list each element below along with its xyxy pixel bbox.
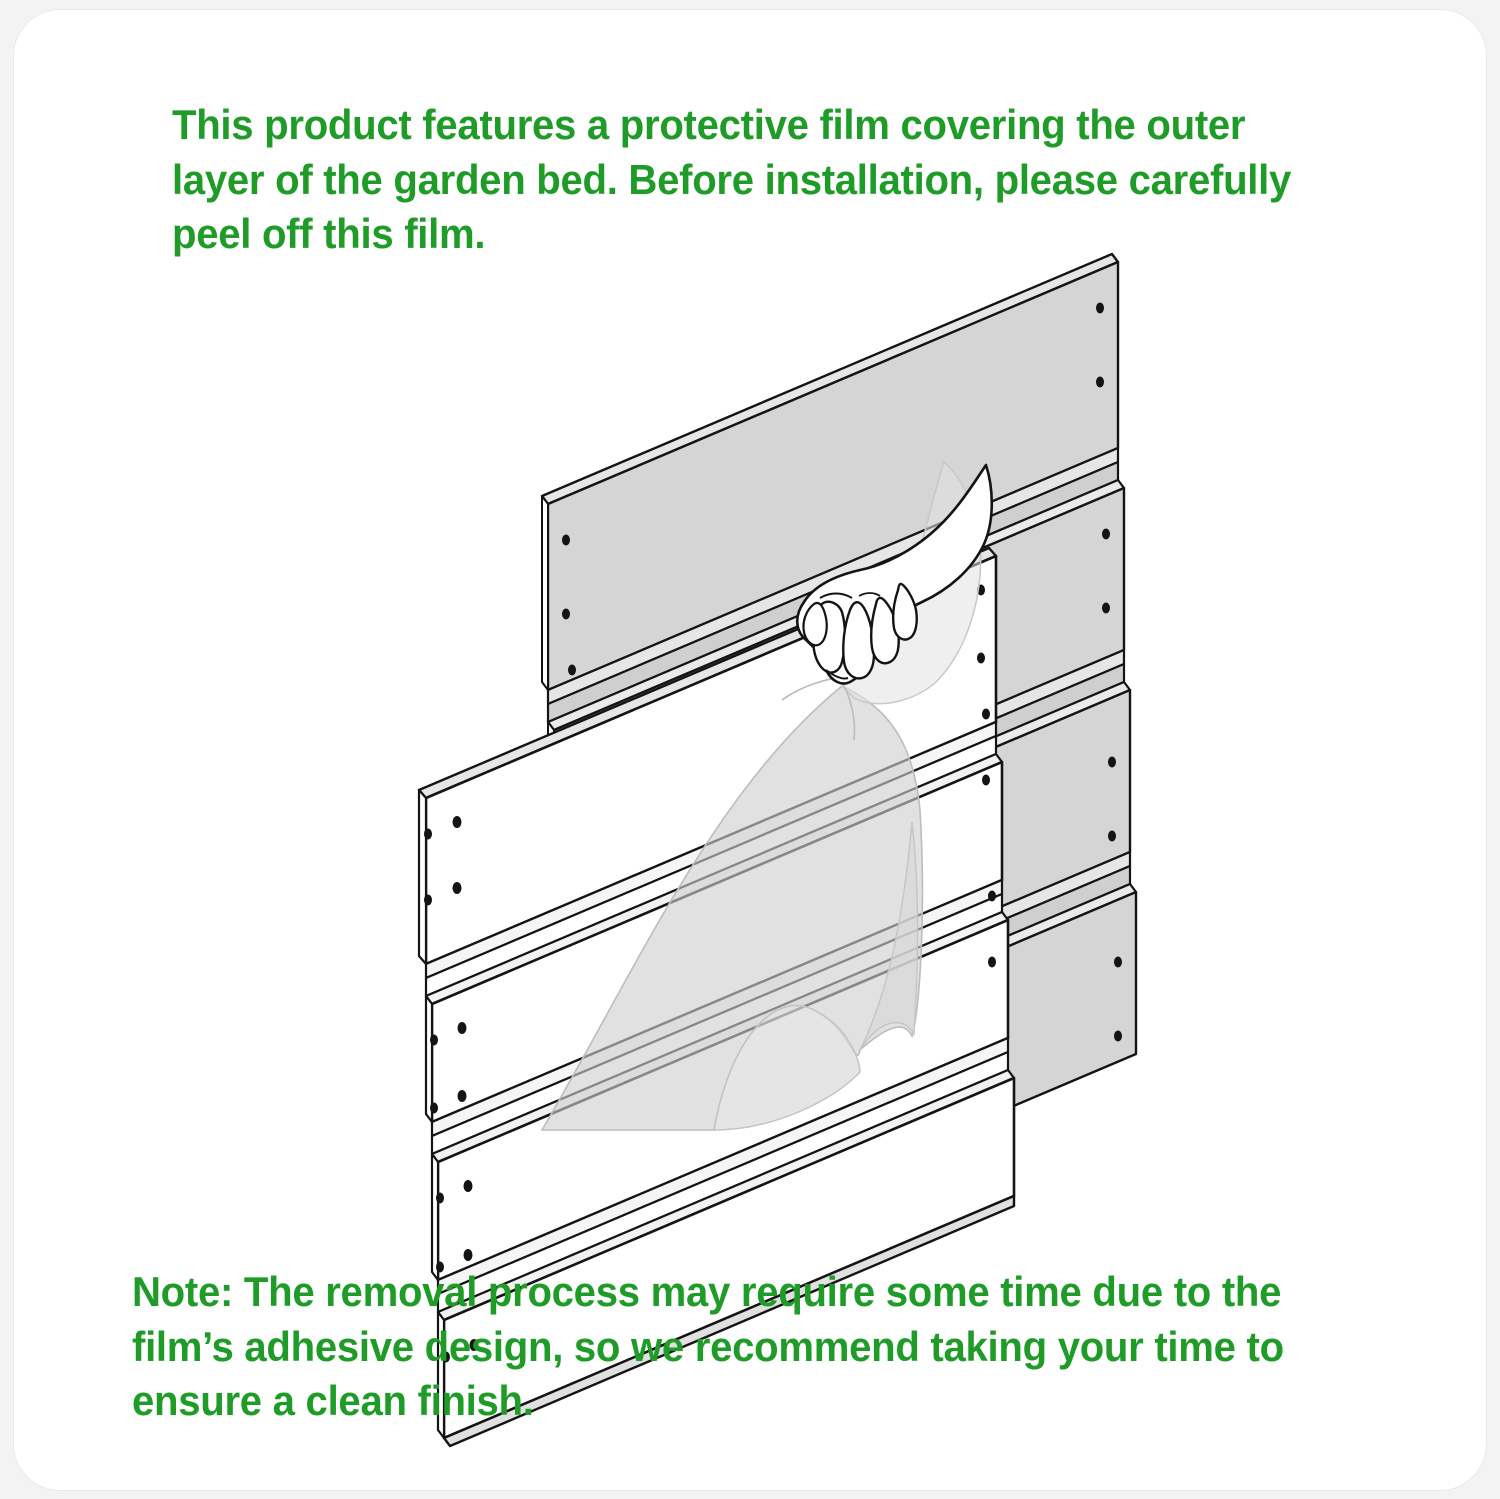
panel-rib-1b bbox=[548, 462, 1118, 722]
fg-panel-rib-2a bbox=[432, 880, 1002, 1136]
fg-panel-face-3 bbox=[438, 920, 1008, 1280]
fg-left-edge-1 bbox=[419, 790, 426, 964]
screw-hole bbox=[458, 1090, 467, 1102]
fg-panel-rib-1a bbox=[426, 722, 996, 978]
screw-hole bbox=[562, 535, 570, 546]
fg-panel-face-1 bbox=[426, 556, 996, 964]
screw-holes-group bbox=[424, 303, 1122, 1363]
panel-board-2 bbox=[548, 480, 1124, 924]
panel-face-1 bbox=[548, 262, 1118, 690]
screw-hole bbox=[982, 709, 990, 720]
intro-instruction-text: This product features a protective film … bbox=[172, 98, 1328, 262]
panel-step-2 bbox=[548, 480, 1124, 730]
panel-step-4 bbox=[560, 884, 1136, 1134]
panel-face-4 bbox=[566, 892, 1136, 1296]
hand-ring-finger bbox=[871, 598, 899, 663]
screw-hole bbox=[568, 665, 576, 676]
screw-hole bbox=[977, 585, 985, 596]
screw-hole bbox=[1096, 303, 1104, 314]
screw-hole bbox=[977, 653, 985, 664]
film-upper-flap bbox=[842, 462, 981, 704]
fg-left-edge-2 bbox=[426, 996, 432, 1122]
page-root: This product features a protective film … bbox=[0, 0, 1500, 1499]
screw-hole bbox=[562, 609, 570, 620]
panel-rib-3a bbox=[560, 852, 1130, 1108]
hand-back-and-forearm bbox=[797, 465, 992, 684]
peeling-hand bbox=[797, 465, 992, 684]
panel-top-rim bbox=[542, 254, 1118, 504]
protective-film-sheet bbox=[542, 462, 981, 1130]
screw-hole bbox=[1114, 957, 1122, 968]
screw-hole bbox=[453, 882, 462, 894]
fg-panel-top-rim bbox=[419, 548, 996, 798]
fg-panel-rib-1b bbox=[426, 736, 996, 996]
screw-hole bbox=[430, 1103, 438, 1114]
panel-rib-2a bbox=[554, 650, 1124, 906]
screw-hole bbox=[988, 891, 996, 902]
instruction-card: This product features a protective film … bbox=[14, 10, 1486, 1490]
screw-hole bbox=[1102, 529, 1110, 540]
hand-little-finger bbox=[893, 584, 917, 640]
panel-rib-1a bbox=[548, 448, 1118, 704]
fg-panel-rib-3a bbox=[438, 1038, 1008, 1294]
screw-hole bbox=[1114, 1031, 1122, 1042]
screw-hole bbox=[1096, 377, 1104, 388]
screw-hole bbox=[982, 775, 990, 786]
screw-hole bbox=[1108, 757, 1116, 768]
panel-rib-3b bbox=[560, 866, 1130, 1126]
note-instruction-text: Note: The removal process may require so… bbox=[132, 1265, 1364, 1429]
panel-left-edge-upper bbox=[542, 496, 554, 892]
film-right-lobe bbox=[860, 822, 918, 1050]
fg-panel-rib-2b bbox=[432, 894, 1002, 1154]
screw-hole bbox=[453, 816, 462, 828]
panel-board-1 bbox=[542, 254, 1118, 722]
screw-hole bbox=[464, 1180, 473, 1192]
panel-board-4 bbox=[560, 884, 1136, 1296]
screw-hole bbox=[1102, 603, 1110, 614]
screw-hole bbox=[458, 1022, 467, 1034]
screw-hole bbox=[424, 895, 432, 906]
panel-face-2 bbox=[554, 488, 1124, 892]
hand-knuckle-crease bbox=[820, 594, 852, 599]
fg-panel-face-2 bbox=[432, 762, 1002, 1122]
panel-step-3 bbox=[554, 682, 1130, 932]
screw-hole bbox=[424, 829, 432, 840]
panel-rib-2b bbox=[554, 664, 1124, 924]
hand-thumb bbox=[803, 603, 826, 645]
film-edge-thread-2 bbox=[844, 686, 855, 740]
film-edge-thread-1 bbox=[782, 678, 836, 700]
hand-index-finger bbox=[813, 602, 845, 673]
panel-board-3 bbox=[554, 682, 1130, 1126]
film-lower-sheet bbox=[542, 686, 922, 1130]
screw-hole bbox=[988, 957, 996, 968]
film-curl-lip bbox=[714, 1006, 860, 1130]
fg-left-edge-3 bbox=[432, 1154, 438, 1280]
panel-left-flange bbox=[542, 496, 554, 892]
hand-middle-finger bbox=[843, 602, 874, 678]
fg-panel-step-2 bbox=[426, 754, 1002, 1004]
screw-hole bbox=[430, 1035, 438, 1046]
screw-hole bbox=[1108, 831, 1116, 842]
screw-hole bbox=[436, 1193, 444, 1204]
fg-panel-step-3 bbox=[432, 912, 1008, 1162]
hand-knuckle-crease-2 bbox=[859, 593, 880, 596]
screw-hole bbox=[464, 1249, 473, 1261]
hand-pinch-point bbox=[826, 670, 848, 679]
panel-face-3 bbox=[560, 690, 1130, 1094]
